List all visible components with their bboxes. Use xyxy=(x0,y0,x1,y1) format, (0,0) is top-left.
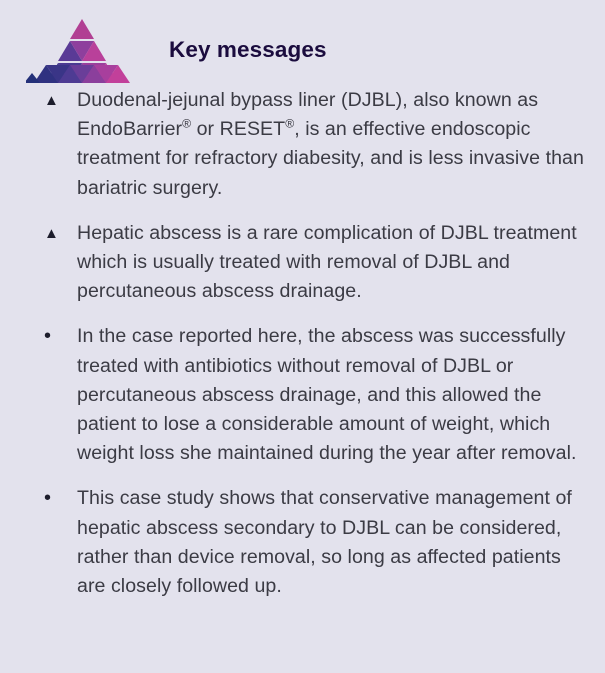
dot-bullet-icon: • xyxy=(44,322,66,351)
dot-bullet-icon: • xyxy=(44,484,66,513)
list-item-text: In the case reported here, the abscess w… xyxy=(77,325,577,464)
list-item: • In the case reported here, the abscess… xyxy=(44,322,587,468)
list-item: • This case study shows that conservativ… xyxy=(44,484,587,601)
triangle-bullet-icon: ▲ xyxy=(44,86,66,115)
triangle-mosaic-logo-icon xyxy=(26,15,138,85)
key-messages-list: ▲ Duodenal-jejunal bypass liner (DJBL), … xyxy=(0,86,605,601)
list-item-text: This case study shows that conservative … xyxy=(77,487,572,597)
list-item-text: Duodenal-jejunal bypass liner (DJBL), al… xyxy=(77,89,584,199)
list-item: ▲ Hepatic abscess is a rare complication… xyxy=(44,219,587,307)
list-item-text: Hepatic abscess is a rare complication o… xyxy=(77,222,577,302)
key-messages-panel: Key messages ▲ Duodenal-jejunal bypass l… xyxy=(0,0,605,673)
list-item: ▲ Duodenal-jejunal bypass liner (DJBL), … xyxy=(44,86,587,203)
triangle-bullet-icon: ▲ xyxy=(44,219,66,248)
page-title: Key messages xyxy=(169,37,327,63)
panel-header: Key messages xyxy=(0,0,605,86)
